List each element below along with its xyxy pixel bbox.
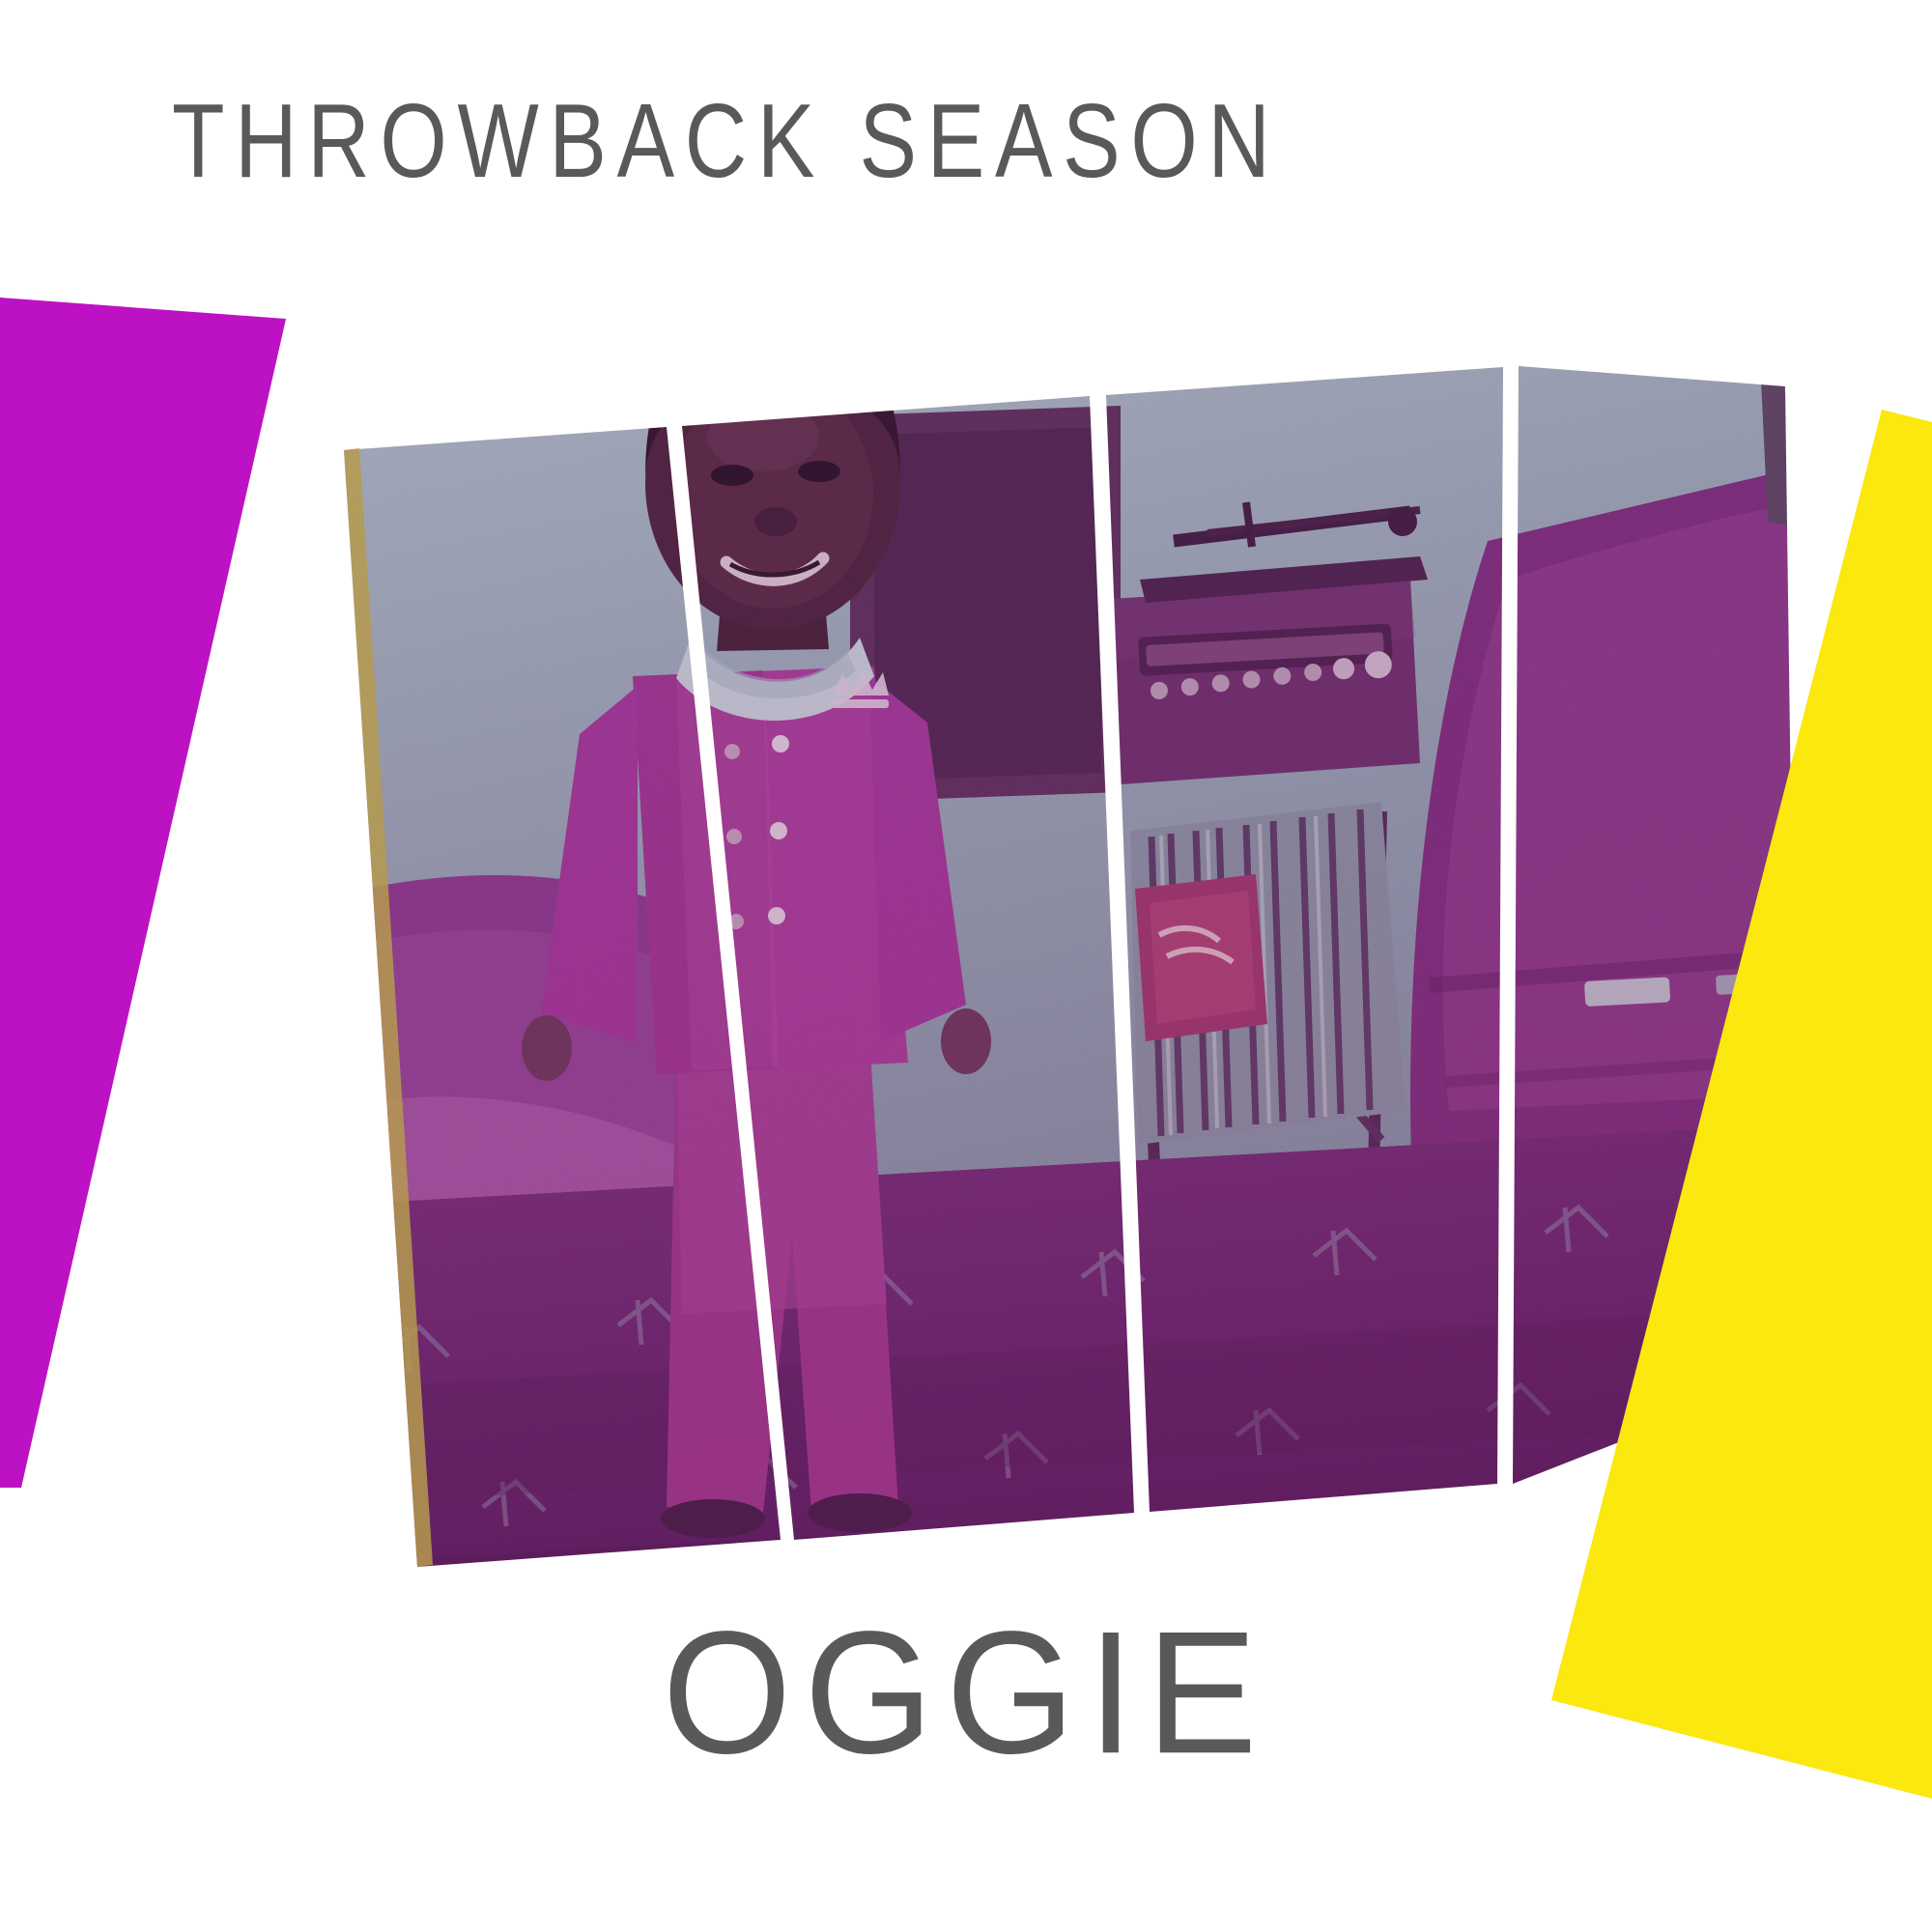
album-cover: THROWBACK SEASON <box>0 0 1932 1932</box>
artist-name: OGGIE <box>0 1605 1932 1780</box>
